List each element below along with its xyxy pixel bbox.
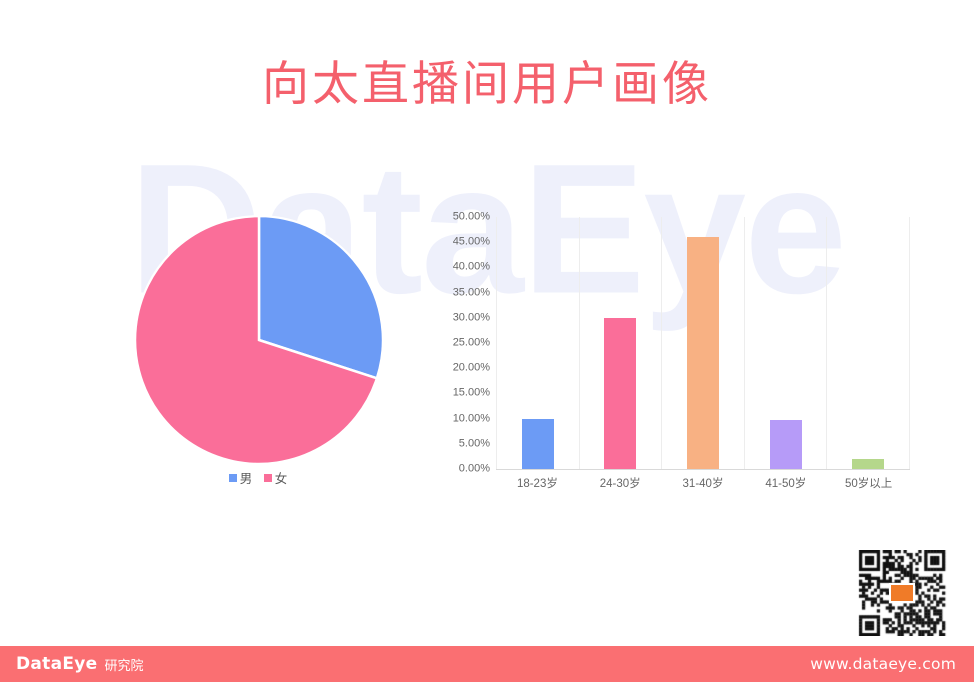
page-title: 向太直播间用户画像 — [0, 55, 974, 115]
y-tick-label: 0.00% — [440, 464, 490, 475]
bar-column — [745, 217, 828, 469]
bar-18-23岁[interactable] — [522, 419, 554, 469]
bar-50岁以上[interactable] — [852, 459, 884, 469]
bar-column — [580, 217, 663, 469]
legend-label-female: 女 — [275, 472, 288, 486]
y-tick-label: 15.00% — [440, 388, 490, 399]
footer-url[interactable]: www.dataeye.com — [810, 646, 956, 682]
bar-column — [827, 217, 910, 469]
x-tick-label: 18-23岁 — [496, 475, 579, 491]
y-tick-label: 5.00% — [440, 438, 490, 449]
y-tick-label: 50.00% — [440, 212, 490, 223]
footer-logo: DataEye 研究院 — [16, 646, 144, 682]
bar-24-30岁[interactable] — [604, 318, 636, 469]
bar-column — [496, 217, 580, 469]
legend-swatch-female-icon — [264, 474, 272, 482]
gender-pie-chart: 男 女 — [118, 210, 398, 495]
bar-x-axis-labels: 18-23岁24-30岁31-40岁41-50岁50岁以上 — [496, 475, 910, 491]
y-tick-label: 10.00% — [440, 413, 490, 424]
footer-bar: DataEye 研究院 www.dataeye.com — [0, 646, 974, 682]
bar-columns — [496, 217, 910, 469]
bar-y-axis: 50.00%45.00%40.00%35.00%30.00%25.00%20.0… — [440, 212, 490, 470]
qr-center-logo-icon — [889, 583, 915, 603]
bar-plot-area — [496, 217, 910, 470]
legend-swatch-male-icon — [229, 474, 237, 482]
x-tick-label: 31-40岁 — [662, 475, 745, 491]
x-tick-label: 24-30岁 — [579, 475, 662, 491]
x-tick-label: 41-50岁 — [744, 475, 827, 491]
bar-41-50岁[interactable] — [770, 420, 802, 469]
x-tick-label: 50岁以上 — [827, 475, 910, 491]
y-tick-label: 40.00% — [440, 262, 490, 273]
bar-column — [662, 217, 745, 469]
y-tick-label: 35.00% — [440, 287, 490, 298]
y-tick-label: 25.00% — [440, 338, 490, 349]
y-tick-label: 30.00% — [440, 312, 490, 323]
footer-brand: DataEye — [16, 654, 98, 674]
pie-svg — [134, 215, 384, 465]
pie-canvas — [134, 215, 384, 465]
legend-item-female[interactable]: 女 — [264, 468, 288, 487]
y-tick-label: 20.00% — [440, 363, 490, 374]
legend-item-male[interactable]: 男 — [229, 468, 253, 487]
bar-31-40岁[interactable] — [687, 237, 719, 469]
legend-label-male: 男 — [240, 472, 253, 486]
qr-code[interactable] — [852, 550, 952, 636]
age-bar-chart: 50.00%45.00%40.00%35.00%30.00%25.00%20.0… — [440, 212, 920, 497]
pie-legend: 男 女 — [118, 468, 398, 487]
y-tick-label: 45.00% — [440, 237, 490, 248]
footer-brand-suffix: 研究院 — [105, 655, 144, 674]
